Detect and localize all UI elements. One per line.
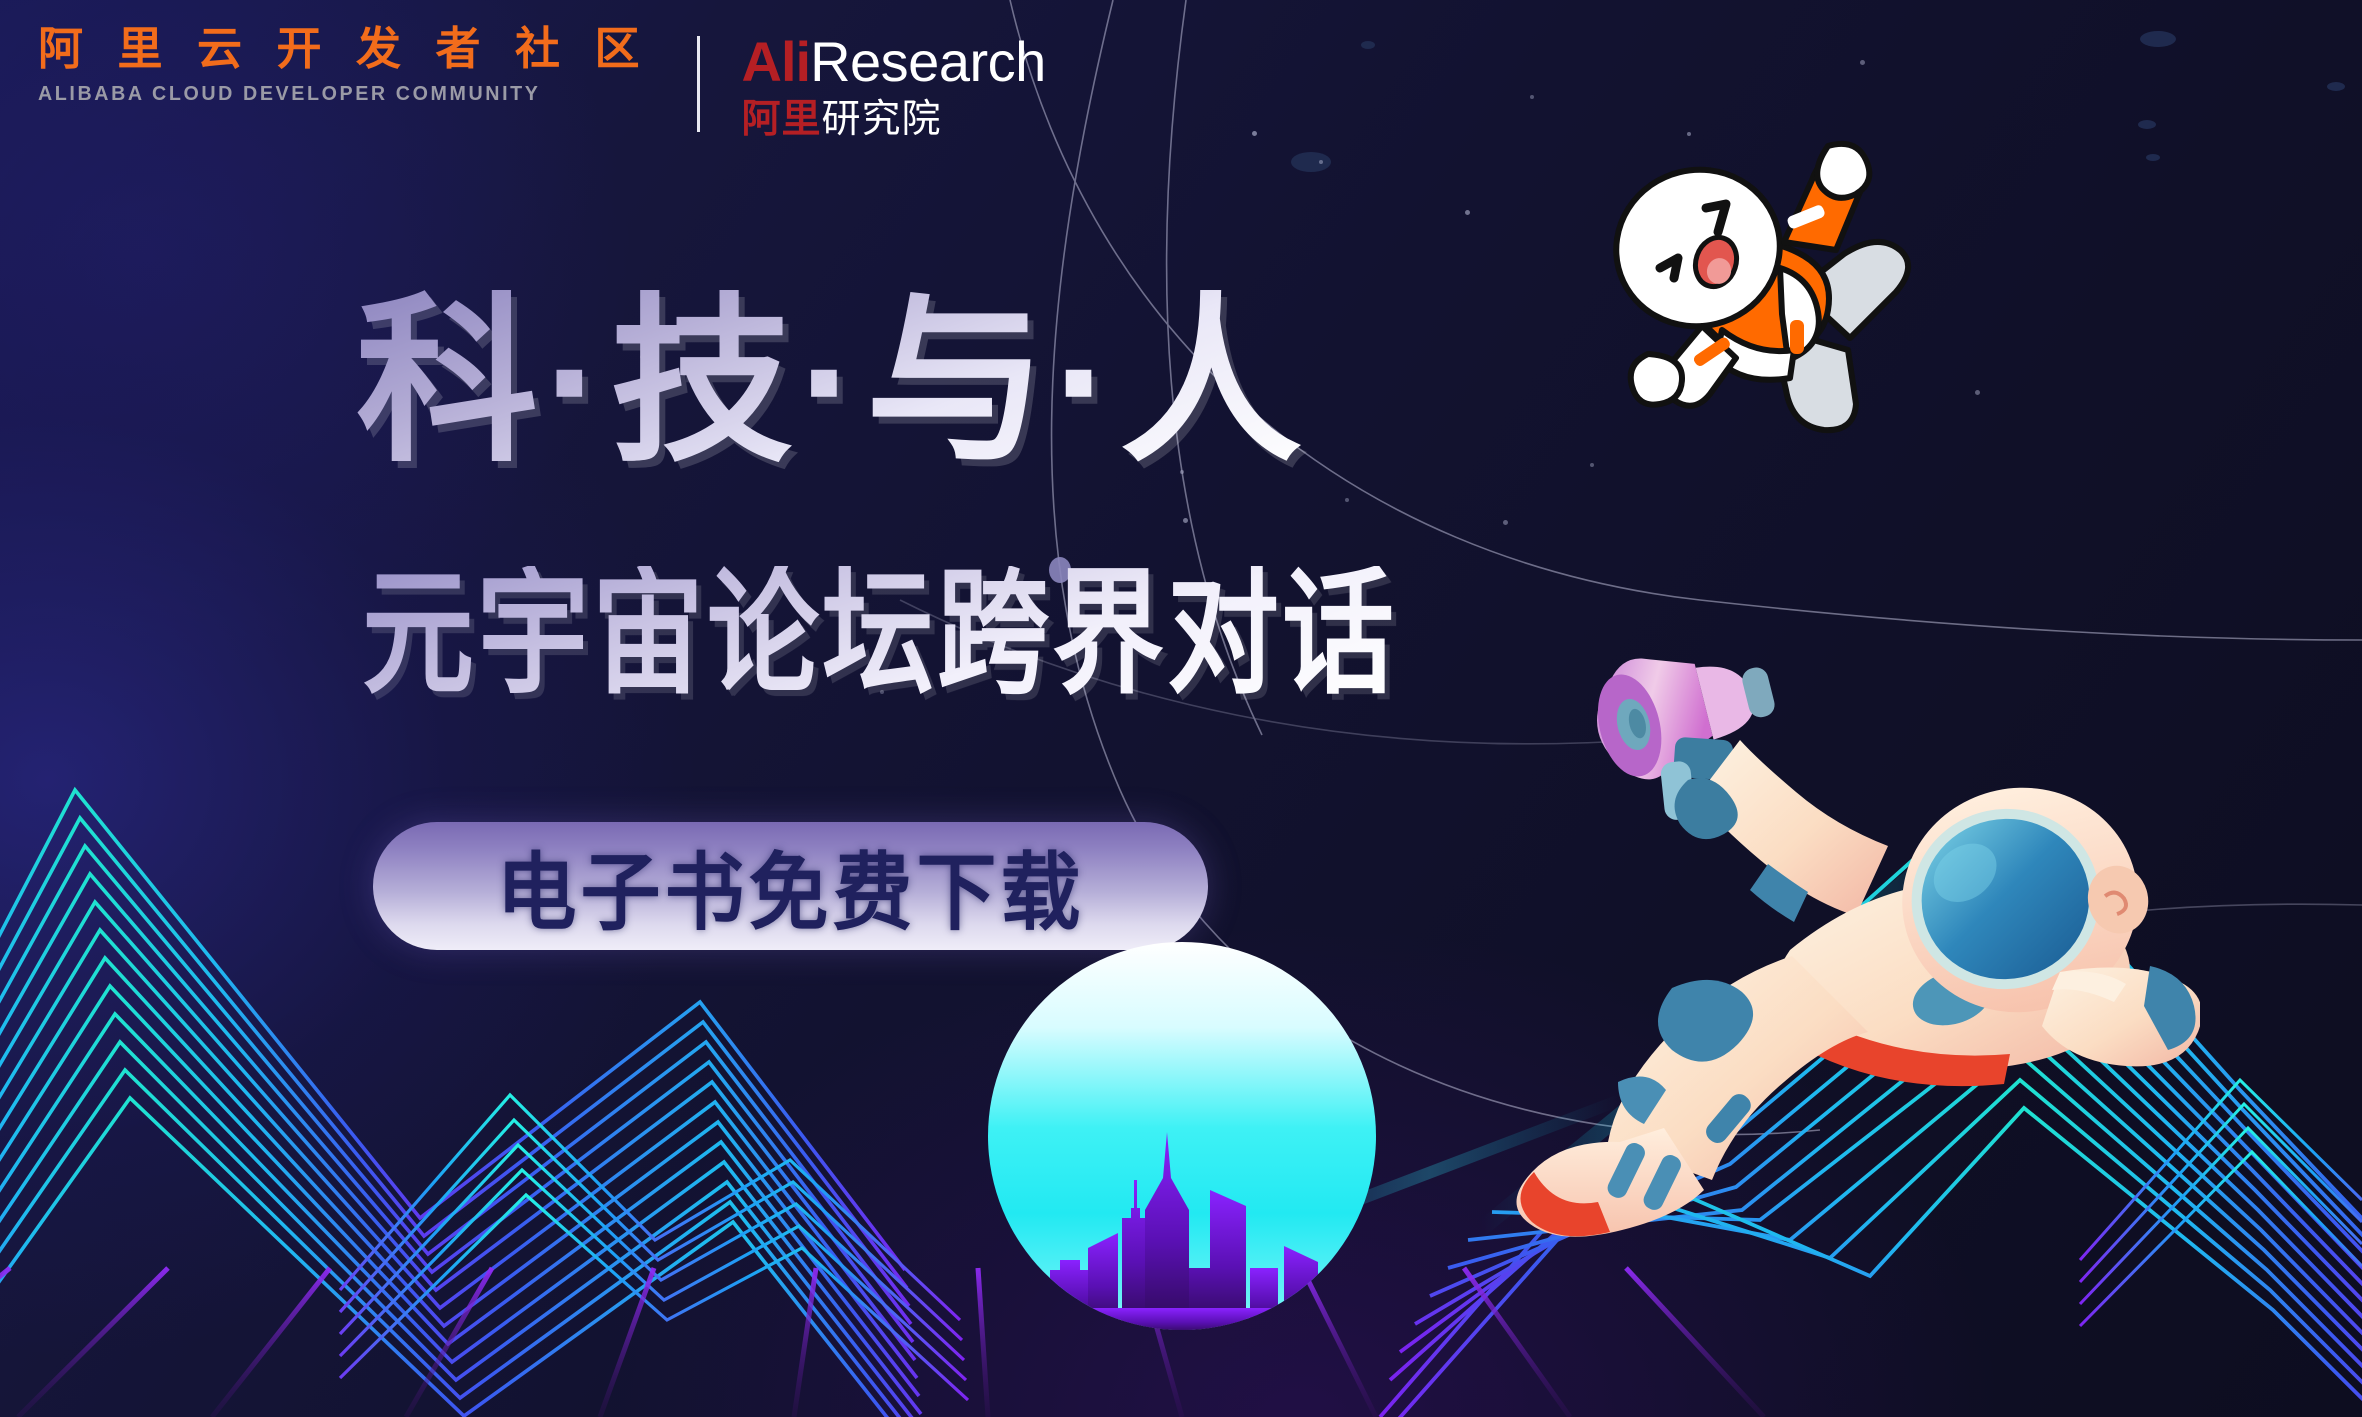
alibaba-cloud-en-name: ALIBABA CLOUD DEVELOPER COMMUNITY xyxy=(38,82,626,106)
bg-star xyxy=(1319,160,1323,164)
bg-blob xyxy=(2327,82,2345,91)
alibaba-cloud-cn-name: 阿 里 云 开 发 者 社 区 xyxy=(38,22,651,75)
download-ebook-label: 电子书免费下载 xyxy=(497,825,1085,948)
ali-research-logo[interactable]: AliResearch 阿里研究院 xyxy=(742,22,1046,139)
city-skyline xyxy=(988,1070,1376,1330)
bg-blob xyxy=(2138,120,2156,129)
bg-star xyxy=(1345,498,1349,502)
header-logos: 阿 里 云 开 发 者 社 区 ALIBABA CLOUD DEVELOPER … xyxy=(38,22,1046,139)
bg-star xyxy=(1503,520,1508,525)
ali-research-cn-white: 研究院 xyxy=(822,98,942,141)
ali-research-ali: Ali xyxy=(742,30,811,93)
page-subtitle: 元宇宙论坛跨界对话 xyxy=(362,566,1397,703)
bg-blob xyxy=(1361,41,1375,49)
download-ebook-button[interactable]: 电子书免费下载 xyxy=(373,822,1208,950)
alibaba-cloud-mascot xyxy=(1576,122,1948,440)
bg-blob xyxy=(1291,152,1331,172)
ali-research-cn-red: 阿里 xyxy=(742,98,822,141)
bg-blob xyxy=(2140,31,2176,47)
page-title: 科·技·与·人 xyxy=(356,290,1308,472)
bg-star xyxy=(1530,95,1534,99)
bg-star xyxy=(1183,518,1188,523)
ali-research-cn-wordmark: 阿里研究院 xyxy=(742,100,1046,139)
bg-star xyxy=(1975,390,1980,395)
bg-blob xyxy=(2146,154,2160,161)
bg-star xyxy=(1860,60,1865,65)
logo-divider xyxy=(697,36,700,132)
ali-research-research: Research xyxy=(810,30,1046,93)
bg-star xyxy=(1590,463,1594,467)
alibaba-cloud-logo[interactable]: 阿 里 云 开 发 者 社 区 ALIBABA CLOUD DEVELOPER … xyxy=(38,22,651,106)
bg-star xyxy=(1252,131,1257,136)
ali-research-wordmark: AliResearch xyxy=(742,34,1046,90)
promo-banner: 阿 里 云 开 发 者 社 区 ALIBABA CLOUD DEVELOPER … xyxy=(0,0,2362,1417)
astronaut-with-megaphone xyxy=(1500,620,2200,1240)
bg-star xyxy=(1465,210,1470,215)
moon-circle xyxy=(988,942,1376,1330)
